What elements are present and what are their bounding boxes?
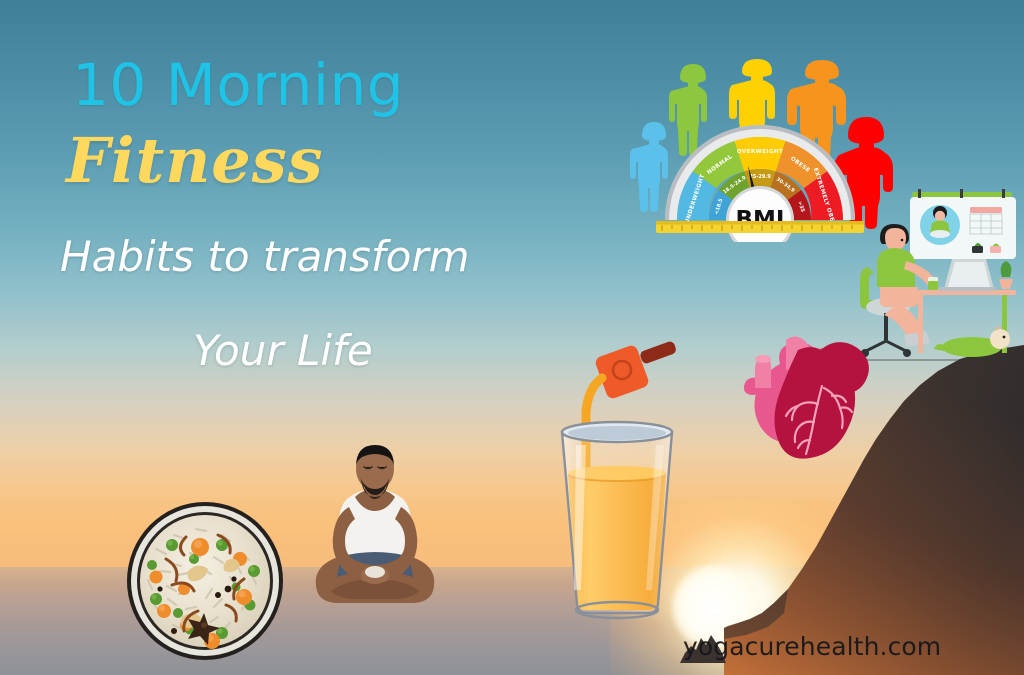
vegetable-rice-bowl-photo [126,501,284,661]
title-line-1: 10 Morning [72,56,404,114]
bmi-gauge: UNDERWEIGHT NORMAL OVERWEIGHT OBESE EXTR… [656,125,864,242]
bmi-label-overweight: OVERWEIGHT [737,149,783,155]
title-line-3: Habits to transform [60,236,470,278]
orange-juice-illustration [548,340,698,632]
measuring-tape-base [656,221,864,233]
juice-jug-spout [594,340,678,400]
bmi-range-overweight: 25-29.9 [749,174,771,180]
figure-normal [669,64,707,156]
wall-calendar-board [910,189,1016,259]
figure-underweight [630,122,668,212]
fitness-poster: 10 Morning Fitness Habits to transform Y… [0,0,1024,675]
drinking-glass [562,422,672,618]
meditating-person-photo [301,441,449,623]
title-line-2-fitness: Fitness [66,130,324,192]
title-line-4: Your Life [193,330,373,372]
anatomical-heart-illustration [736,330,884,480]
watermark-url: yogacurehealth.com [683,632,941,661]
dog-under-desk [934,326,1010,357]
